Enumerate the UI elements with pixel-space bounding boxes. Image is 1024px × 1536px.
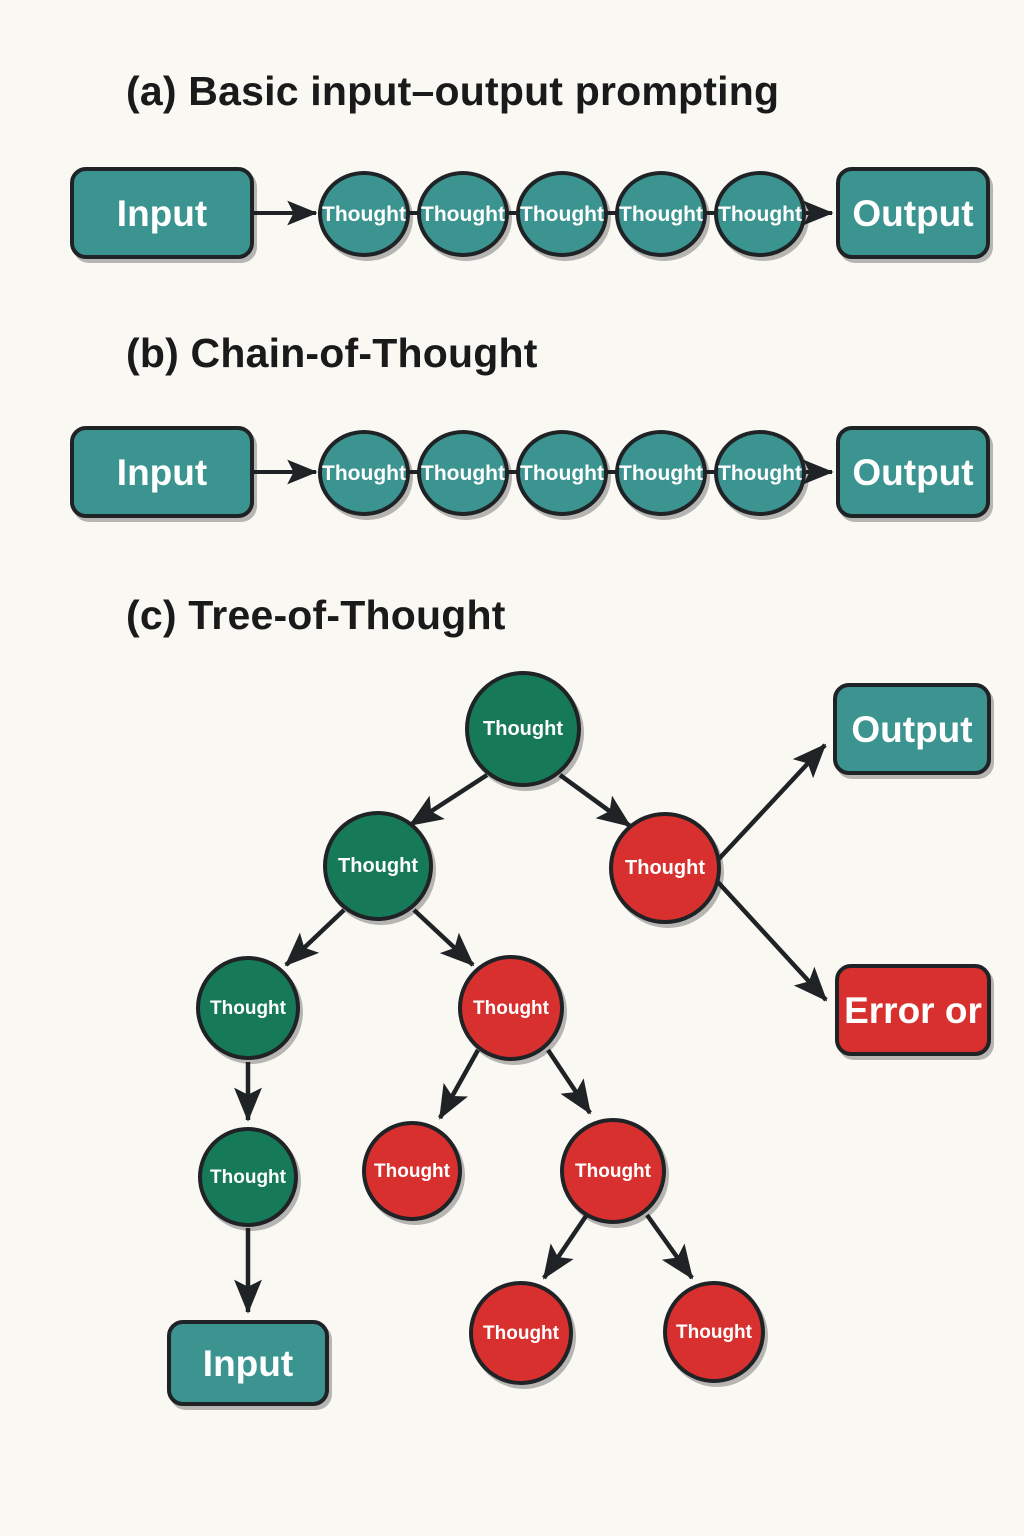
- diagram-canvas: (a) Basic input–output prompting (b) Cha…: [0, 0, 1024, 1536]
- tree-node-l3[interactable]: Thought: [198, 1127, 298, 1227]
- tree-node-r1[interactable]: Thought: [609, 812, 721, 924]
- arrow-tree-mid-to-midright: [548, 1050, 590, 1113]
- arrow-tree-right-to-output: [716, 745, 825, 862]
- a-output-box[interactable]: Output: [836, 167, 990, 259]
- b-thought-circle-5[interactable]: Thought: [714, 430, 806, 516]
- b-thought-circle-1[interactable]: Thought: [318, 430, 410, 516]
- tree-node-m2[interactable]: Thought: [458, 955, 564, 1061]
- tree-input-box[interactable]: Input: [167, 1320, 329, 1406]
- tree-node-root[interactable]: Thought: [465, 671, 581, 787]
- tree-node-m4b[interactable]: Thought: [663, 1281, 765, 1383]
- b-thought-circle-2[interactable]: Thought: [417, 430, 509, 516]
- a-thought-circle-4[interactable]: Thought: [615, 171, 707, 257]
- arrow-tree-right-to-error: [716, 880, 826, 1000]
- section-title-a: (a) Basic input–output prompting: [126, 68, 779, 115]
- a-thought-circle-1[interactable]: Thought: [318, 171, 410, 257]
- arrow-tree-midright-to-leaf2: [647, 1215, 692, 1278]
- b-thought-circle-4[interactable]: Thought: [615, 430, 707, 516]
- b-output-box[interactable]: Output: [836, 426, 990, 518]
- arrow-tree-root-to-left: [410, 775, 487, 825]
- a-thought-circle-2[interactable]: Thought: [417, 171, 509, 257]
- tree-node-m3a[interactable]: Thought: [362, 1121, 462, 1221]
- section-title-b: (b) Chain-of-Thought: [126, 330, 538, 377]
- tree-node-m3b[interactable]: Thought: [560, 1118, 666, 1224]
- a-thought-circle-3[interactable]: Thought: [516, 171, 608, 257]
- a-thought-circle-5[interactable]: Thought: [714, 171, 806, 257]
- b-thought-circle-3[interactable]: Thought: [516, 430, 608, 516]
- arrow-tree-root-to-right: [560, 775, 630, 826]
- section-title-c: (c) Tree-of-Thought: [126, 592, 506, 639]
- tree-node-l1[interactable]: Thought: [323, 811, 433, 921]
- arrow-tree-left-to-mid: [414, 910, 473, 965]
- tree-output-box[interactable]: Output: [833, 683, 991, 775]
- tree-node-m4a[interactable]: Thought: [469, 1281, 573, 1385]
- arrow-tree-mid-to-midleft: [440, 1050, 478, 1118]
- arrow-tree-left-to-leftleft: [286, 910, 344, 965]
- tree-error-box[interactable]: Error or: [835, 964, 991, 1056]
- a-input-box[interactable]: Input: [70, 167, 254, 259]
- b-input-box[interactable]: Input: [70, 426, 254, 518]
- arrow-tree-midright-to-leaf1: [544, 1216, 586, 1278]
- tree-node-l2[interactable]: Thought: [196, 956, 300, 1060]
